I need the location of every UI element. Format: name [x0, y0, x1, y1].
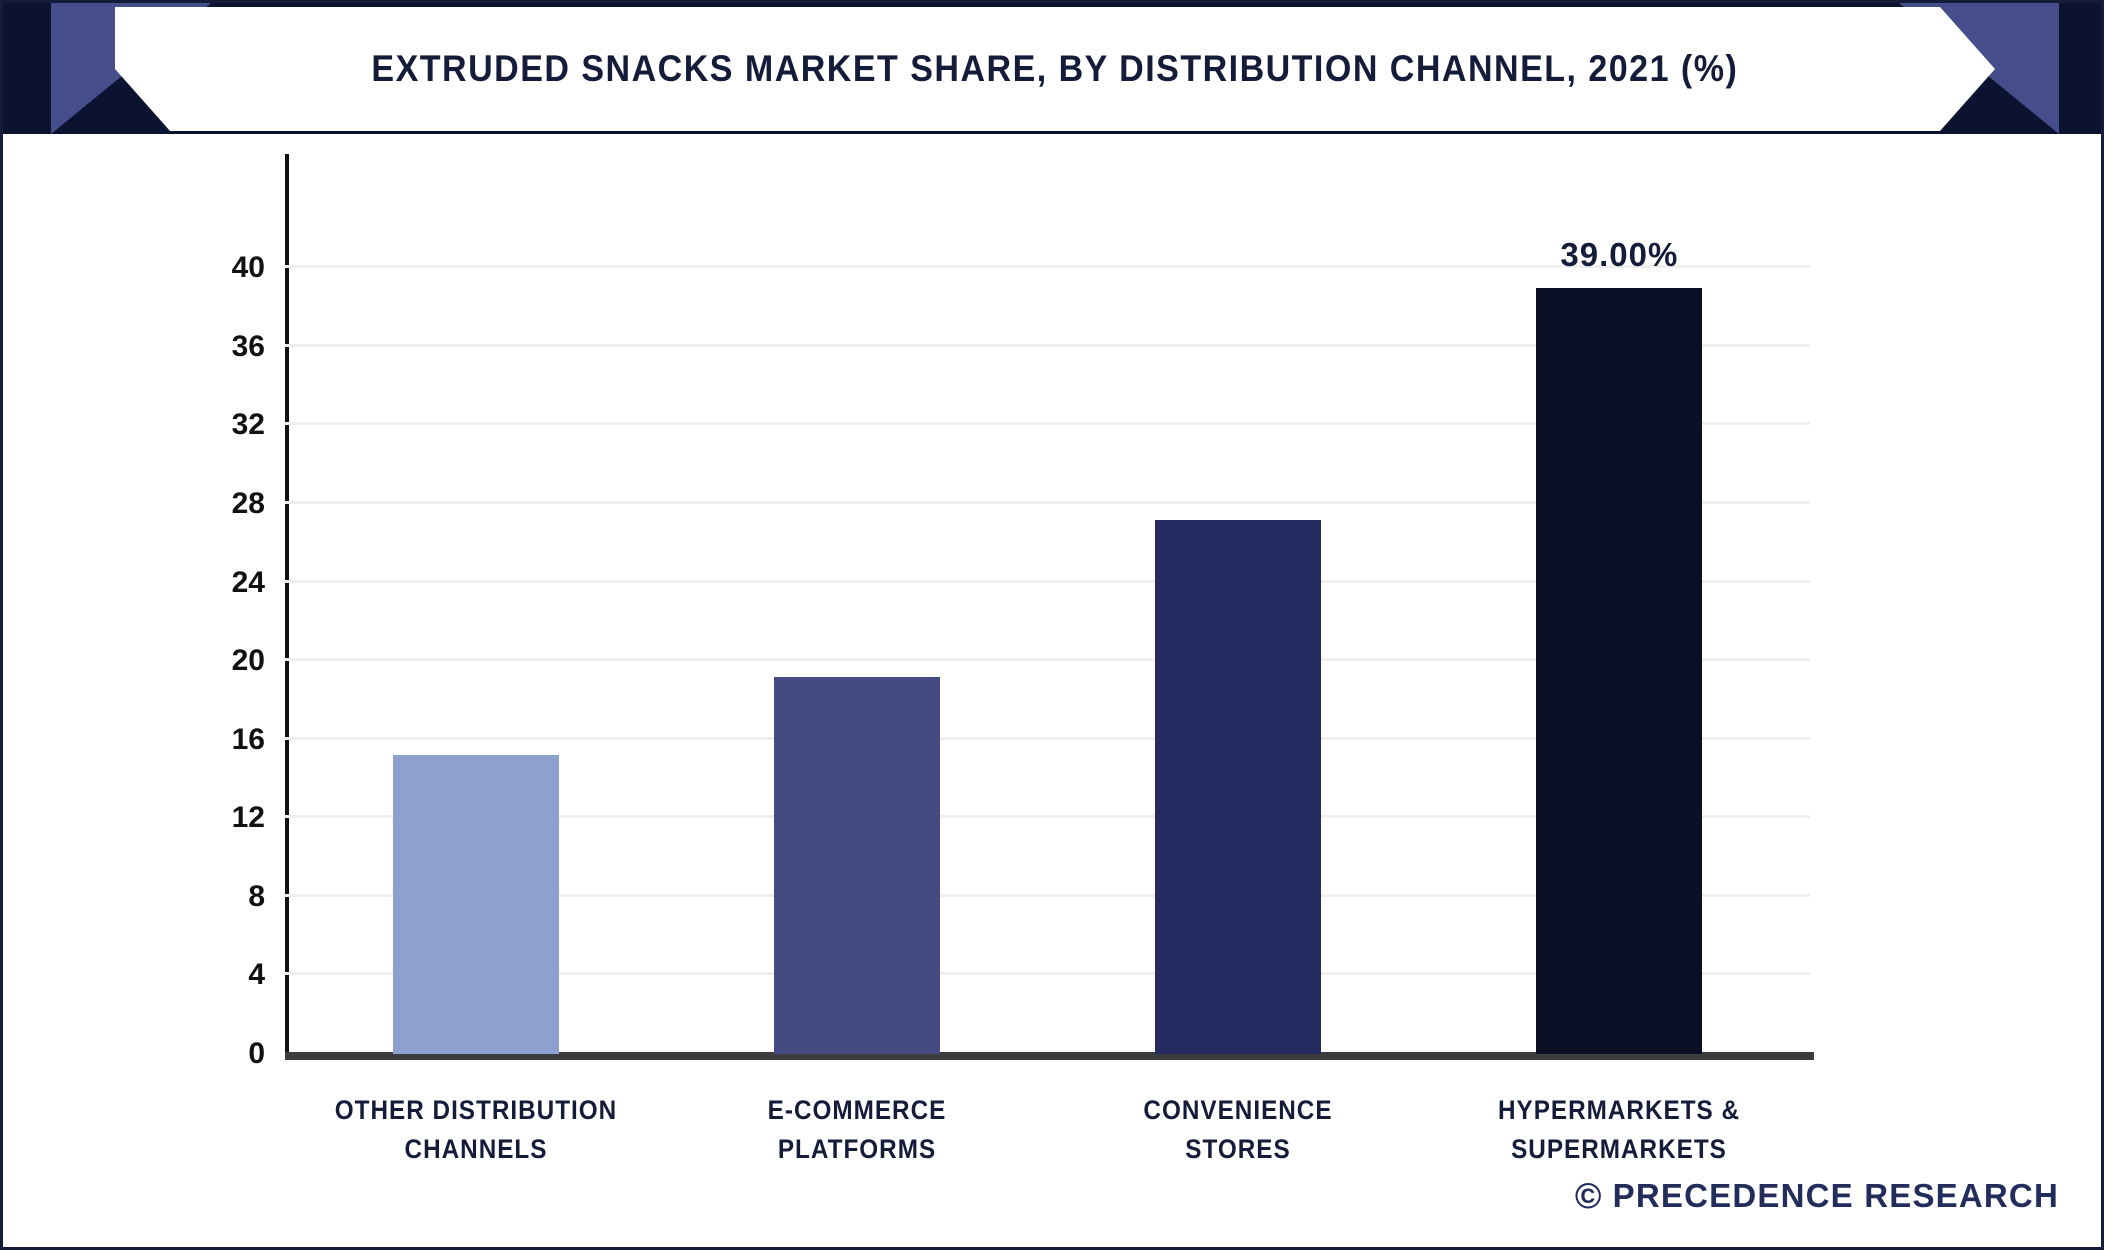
y-tick-label: 32 — [232, 408, 265, 442]
y-tick-label: 8 — [248, 880, 265, 914]
x-category-label: OTHER DISTRIBUTIONCHANNELS — [327, 1091, 624, 1169]
y-tick-label: 12 — [232, 801, 265, 835]
x-category-label-line: CHANNELS — [327, 1130, 624, 1169]
bar-chart: 0481216202428323640 39.00% OTHER DISTRIB… — [285, 229, 1810, 1054]
x-category-label-line: PLATFORMS — [708, 1130, 1005, 1169]
y-tick-label: 16 — [232, 723, 265, 757]
y-tick-label: 4 — [248, 958, 265, 992]
bar: 39.00% — [1536, 288, 1702, 1054]
chart-header-band: EXTRUDED SNACKS MARKET SHARE, BY DISTRIB… — [3, 3, 2104, 134]
x-category-label: E-COMMERCEPLATFORMS — [708, 1091, 1005, 1169]
bar — [393, 755, 559, 1054]
chart-figure: EXTRUDED SNACKS MARKET SHARE, BY DISTRIB… — [0, 0, 2104, 1250]
x-category-label-line: CONVENIENCE — [1090, 1091, 1387, 1130]
bar — [1155, 520, 1321, 1054]
watermark-text: PRECEDENCE RESEARCH — [1613, 1177, 2059, 1215]
bar — [774, 677, 940, 1054]
y-tick-label: 20 — [232, 644, 265, 678]
copyright-icon: © — [1575, 1178, 1603, 1214]
y-tick-label: 0 — [248, 1037, 265, 1071]
x-category-label: HYPERMARKETS &SUPERMARKETS — [1471, 1091, 1768, 1169]
x-category-label-line: STORES — [1090, 1130, 1387, 1169]
title-plate: EXTRUDED SNACKS MARKET SHARE, BY DISTRIB… — [115, 7, 1995, 131]
y-tick-label: 24 — [232, 566, 265, 600]
x-category-label: CONVENIENCESTORES — [1090, 1091, 1387, 1169]
watermark: © PRECEDENCE RESEARCH — [1575, 1177, 2059, 1215]
y-tick-label: 36 — [232, 330, 265, 364]
y-axis-line — [285, 154, 289, 1054]
plot-area: 0481216202428323640 39.00% OTHER DISTRIB… — [3, 134, 2104, 1250]
x-category-label-line: E-COMMERCE — [708, 1091, 1005, 1130]
y-tick-label: 28 — [232, 487, 265, 521]
x-category-label-line: SUPERMARKETS — [1471, 1130, 1768, 1169]
bar-value-label: 39.00% — [1560, 236, 1678, 274]
y-tick-label: 40 — [232, 251, 265, 285]
x-category-label-line: HYPERMARKETS & — [1471, 1091, 1768, 1130]
x-category-label-line: OTHER DISTRIBUTION — [327, 1091, 624, 1130]
page-title: EXTRUDED SNACKS MARKET SHARE, BY DISTRIB… — [372, 48, 1739, 90]
